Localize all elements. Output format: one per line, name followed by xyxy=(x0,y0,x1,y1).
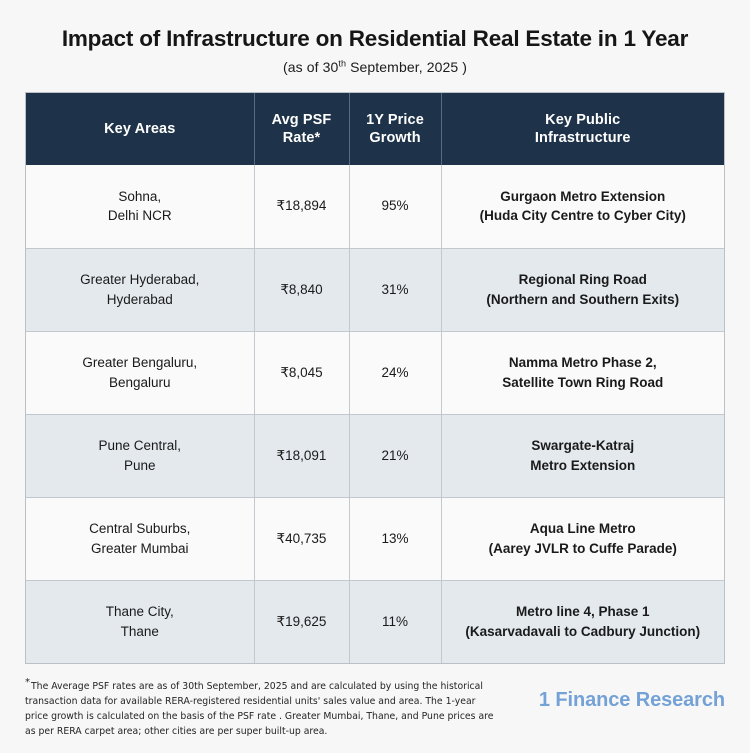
cell-key-area: Greater Bengaluru,Bengaluru xyxy=(26,331,254,414)
cell-avg-psf-rate: ₹40,735 xyxy=(254,497,349,580)
cell-avg-psf-rate: ₹19,625 xyxy=(254,580,349,663)
table-body: Sohna,Delhi NCR ₹18,894 95% Gurgaon Metr… xyxy=(26,165,724,663)
cell-price-growth: 11% xyxy=(349,580,441,663)
cell-key-area: Sohna,Delhi NCR xyxy=(26,165,254,248)
subtitle-ordinal-suffix: th xyxy=(338,58,346,68)
table-row: Greater Bengaluru,Bengaluru ₹8,045 24% N… xyxy=(26,331,724,414)
table-header: Key Areas Avg PSFRate* 1Y PriceGrowth Ke… xyxy=(26,93,724,165)
footnote-asterisk: * xyxy=(25,677,30,688)
cell-price-growth: 95% xyxy=(349,165,441,248)
cell-infrastructure: Regional Ring Road(Northern and Southern… xyxy=(441,248,724,331)
cell-key-area: Thane City,Thane xyxy=(26,580,254,663)
cell-infrastructure: Gurgaon Metro Extension(Huda City Centre… xyxy=(441,165,724,248)
footer: *The Average PSF rates are as of 30th Se… xyxy=(25,679,732,739)
footnote-text: The Average PSF rates are as of 30th Sep… xyxy=(25,681,494,737)
real-estate-table: Key Areas Avg PSFRate* 1Y PriceGrowth Ke… xyxy=(26,93,724,663)
subtitle-prefix: (as of 30 xyxy=(283,59,338,75)
table-row: Central Suburbs,Greater Mumbai ₹40,735 1… xyxy=(26,497,724,580)
table-row: Greater Hyderabad,Hyderabad ₹8,840 31% R… xyxy=(26,248,724,331)
cell-price-growth: 21% xyxy=(349,414,441,497)
cell-infrastructure: Swargate-KatrajMetro Extension xyxy=(441,414,724,497)
cell-avg-psf-rate: ₹8,840 xyxy=(254,248,349,331)
column-header-1y-price-growth: 1Y PriceGrowth xyxy=(349,93,441,165)
infographic-page: Impact of Infrastructure on Residential … xyxy=(0,0,750,753)
cell-key-area: Greater Hyderabad,Hyderabad xyxy=(26,248,254,331)
table-header-row: Key Areas Avg PSFRate* 1Y PriceGrowth Ke… xyxy=(26,93,724,165)
footnote: *The Average PSF rates are as of 30th Se… xyxy=(25,679,497,739)
column-header-key-public-infra: Key PublicInfrastructure xyxy=(441,93,724,165)
cell-avg-psf-rate: ₹18,091 xyxy=(254,414,349,497)
data-table-container: Key Areas Avg PSFRate* 1Y PriceGrowth Ke… xyxy=(25,92,725,664)
title-block: Impact of Infrastructure on Residential … xyxy=(0,0,750,75)
cell-price-growth: 13% xyxy=(349,497,441,580)
cell-key-area: Pune Central,Pune xyxy=(26,414,254,497)
cell-avg-psf-rate: ₹8,045 xyxy=(254,331,349,414)
cell-price-growth: 31% xyxy=(349,248,441,331)
cell-price-growth: 24% xyxy=(349,331,441,414)
cell-infrastructure: Namma Metro Phase 2,Satellite Town Ring … xyxy=(441,331,724,414)
cell-key-area: Central Suburbs,Greater Mumbai xyxy=(26,497,254,580)
page-subtitle: (as of 30th September, 2025 ) xyxy=(0,59,750,75)
table-row: Sohna,Delhi NCR ₹18,894 95% Gurgaon Metr… xyxy=(26,165,724,248)
table-row: Thane City,Thane ₹19,625 11% Metro line … xyxy=(26,580,724,663)
cell-infrastructure: Metro line 4, Phase 1(Kasarvadavali to C… xyxy=(441,580,724,663)
subtitle-suffix: September, 2025 ) xyxy=(346,59,467,75)
cell-avg-psf-rate: ₹18,894 xyxy=(254,165,349,248)
table-row: Pune Central,Pune ₹18,091 21% Swargate-K… xyxy=(26,414,724,497)
page-title: Impact of Infrastructure on Residential … xyxy=(0,25,750,52)
brand-label: 1 Finance Research xyxy=(539,679,732,712)
cell-infrastructure: Aqua Line Metro(Aarey JVLR to Cuffe Para… xyxy=(441,497,724,580)
column-header-key-areas: Key Areas xyxy=(26,93,254,165)
column-header-avg-psf-rate: Avg PSFRate* xyxy=(254,93,349,165)
